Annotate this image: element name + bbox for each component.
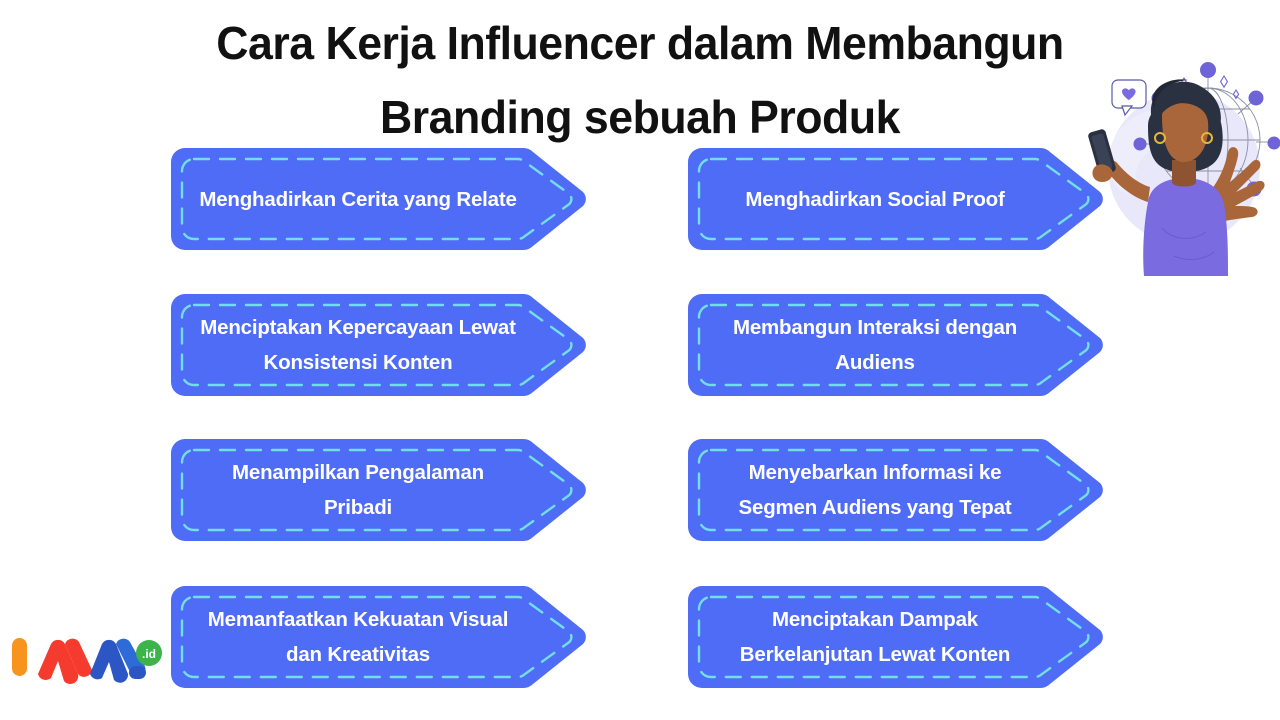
banner-label: Memanfaatkan Kekuatan Visual dan Kreativ…	[193, 586, 523, 688]
banner-menyebarkan-informasi-segmen[interactable]: Menyebarkan Informasi ke Segmen Audiens …	[688, 439, 1106, 541]
banner-label: Membangun Interaksi dengan Audiens	[710, 294, 1040, 396]
banner-label: Menghadirkan Social Proof	[710, 148, 1040, 250]
imm-id-logo[interactable]: .id	[6, 626, 166, 688]
illustration-woman-selfie-globe	[1088, 56, 1280, 276]
banner-label: Menciptakan Kepercayaan Lewat Konsistens…	[193, 294, 523, 396]
banner-menampilkan-pengalaman-pribadi[interactable]: Menampilkan Pengalaman Pribadi	[171, 439, 589, 541]
banner-menghadirkan-social-proof[interactable]: Menghadirkan Social Proof	[688, 148, 1106, 250]
banner-label: Menyebarkan Informasi ke Segmen Audiens …	[710, 439, 1040, 541]
banner-label: Menghadirkan Cerita yang Relate	[193, 148, 523, 250]
neck	[1172, 160, 1196, 187]
banner-memanfaatkan-kekuatan-visual[interactable]: Memanfaatkan Kekuatan Visual dan Kreativ…	[171, 586, 589, 688]
logo-suffix-text: .id	[142, 647, 156, 661]
logo-bar-orange	[12, 638, 27, 676]
banner-label: Menampilkan Pengalaman Pribadi	[193, 439, 523, 541]
banner-membangun-interaksi-audiens[interactable]: Membangun Interaksi dengan Audiens	[688, 294, 1106, 396]
shirt	[1143, 178, 1228, 276]
logo-blue-foot	[129, 666, 146, 679]
title-line-1: Cara Kerja Influencer dalam Membangun	[19, 6, 1261, 80]
banner-menciptakan-dampak-berkelanjutan[interactable]: Menciptakan Dampak Berkelanjutan Lewat K…	[688, 586, 1106, 688]
title-line-2: Branding sebuah Produk	[19, 80, 1261, 154]
banner-menciptakan-kepercayaan-konsistensi[interactable]: Menciptakan Kepercayaan Lewat Konsistens…	[171, 294, 589, 396]
banner-label: Menciptakan Dampak Berkelanjutan Lewat K…	[710, 586, 1040, 688]
infographic-canvas: Cara Kerja Influencer dalam Membangun Br…	[0, 0, 1280, 720]
banner-menghadirkan-cerita-relate[interactable]: Menghadirkan Cerita yang Relate	[171, 148, 589, 250]
